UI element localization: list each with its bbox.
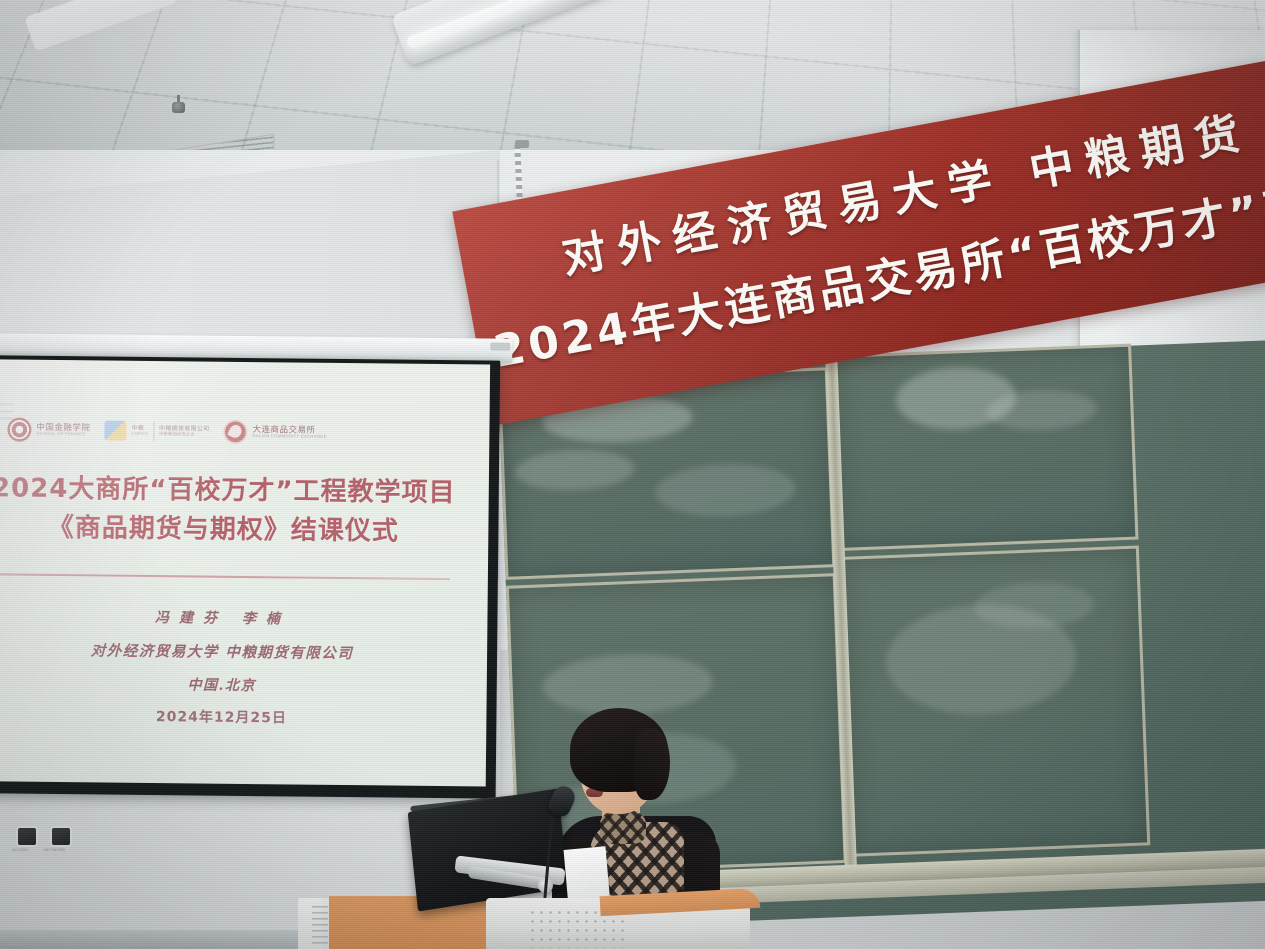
lectern-vent-slots [312, 906, 328, 946]
person-hair-side [634, 728, 670, 800]
floor-shadow [0, 930, 300, 949]
classroom-photo-scene: 对外经济贸易大学 中粮期货 2024年大连商品交易所“百校万才”工程教 中国金融… [0, 0, 1265, 949]
lectern-wood-panel [329, 896, 499, 949]
wall-outlet-left-label: AC220V [12, 847, 28, 852]
wall-outlet-right[interactable] [52, 828, 70, 845]
blackboard-panel-4 [839, 545, 1150, 856]
screen-glare [0, 359, 490, 786]
projection-surface: 中国金融学院 SCHOOL OF FINANCE 中粮 COFCO 中粮期货有限… [0, 359, 490, 786]
wall-outlet-left[interactable] [18, 828, 36, 845]
screen-case-cap [490, 343, 510, 351]
wall-outlet-right-label: NETWORK [44, 847, 66, 852]
projection-screen-assembly: 中国金融学院 SCHOOL OF FINANCE 中粮 COFCO 中粮期货有限… [0, 333, 512, 799]
screen-frame: 中国金融学院 SCHOOL OF FINANCE 中粮 COFCO 中粮期货有限… [0, 355, 500, 798]
person-collar [600, 810, 646, 844]
sprinkler-head-icon [172, 95, 185, 113]
lectern-speaker-grille [528, 908, 628, 948]
blackboard-panel-2 [831, 344, 1138, 551]
